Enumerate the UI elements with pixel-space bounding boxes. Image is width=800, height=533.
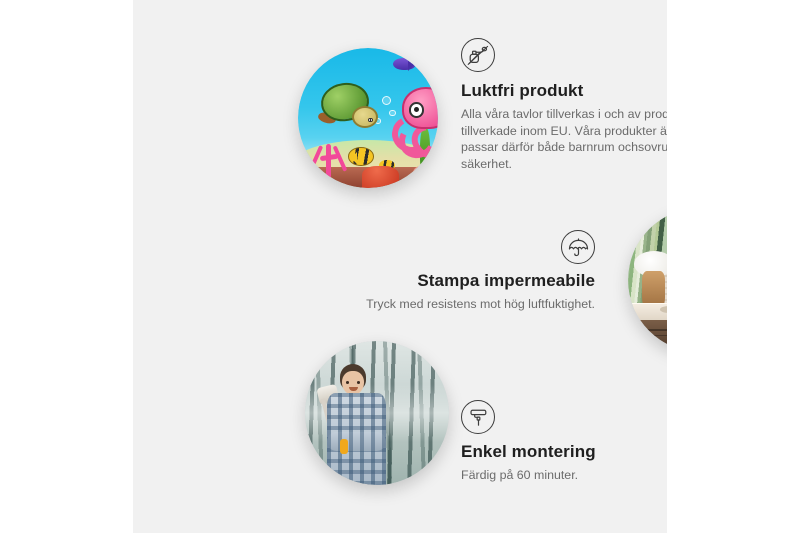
- feature-description: Alla våra tavlor tillverkas i och av pro…: [461, 106, 667, 172]
- person-figure: [317, 364, 406, 485]
- content-panel: Luktfri produkt Alla våra tavlor tillver…: [133, 0, 667, 533]
- feature-title: Enkel montering: [461, 442, 667, 462]
- vanity-cabinet: [628, 320, 667, 352]
- turtle-eye: [368, 118, 373, 123]
- paint-roller-icon: [461, 400, 495, 434]
- feature-description: Tryck med resistens mot hög luftfuktighe…: [345, 296, 595, 313]
- ocean-scene: [298, 48, 438, 188]
- feature-easy-mounting: Enkel montering Färdig på 60 minuter.: [461, 400, 667, 484]
- eye: [346, 381, 349, 384]
- feature-odourless: Luktfri produkt Alla våra tavlor tillver…: [461, 38, 667, 172]
- feature-title: Stampa impermeabile: [345, 271, 595, 291]
- octopus-head: [402, 87, 438, 129]
- eye: [357, 381, 360, 384]
- product-image-ocean: [298, 48, 438, 188]
- tool-grip: [340, 439, 348, 454]
- product-image-bathroom: [628, 208, 667, 352]
- octopus-icon: [390, 87, 438, 149]
- feature-description: Färdig på 60 minuter.: [461, 467, 667, 484]
- fish-icon: [348, 147, 374, 166]
- starfish-icon: [413, 166, 433, 183]
- fish-icon: [393, 58, 415, 71]
- no-smell-perfume-bottle-icon: [461, 38, 495, 72]
- feature-title: Luktfri produkt: [461, 81, 667, 101]
- crab-icon: [362, 166, 398, 188]
- turtle-head: [352, 106, 378, 128]
- product-image-painter: [305, 341, 449, 485]
- folded-arms: [327, 432, 386, 451]
- feature-waterproof: Stampa impermeabile Tryck med resistens …: [345, 230, 595, 313]
- umbrella-icon: [561, 230, 595, 264]
- drawer-line: [628, 335, 667, 336]
- bathroom-scene: [628, 208, 667, 352]
- painter-scene: [305, 341, 449, 485]
- octopus-eye: [409, 102, 424, 117]
- turtle-icon: [318, 82, 380, 130]
- infographic-page: Luktfri produkt Alla våra tavlor tillver…: [0, 0, 800, 533]
- smile: [349, 387, 358, 391]
